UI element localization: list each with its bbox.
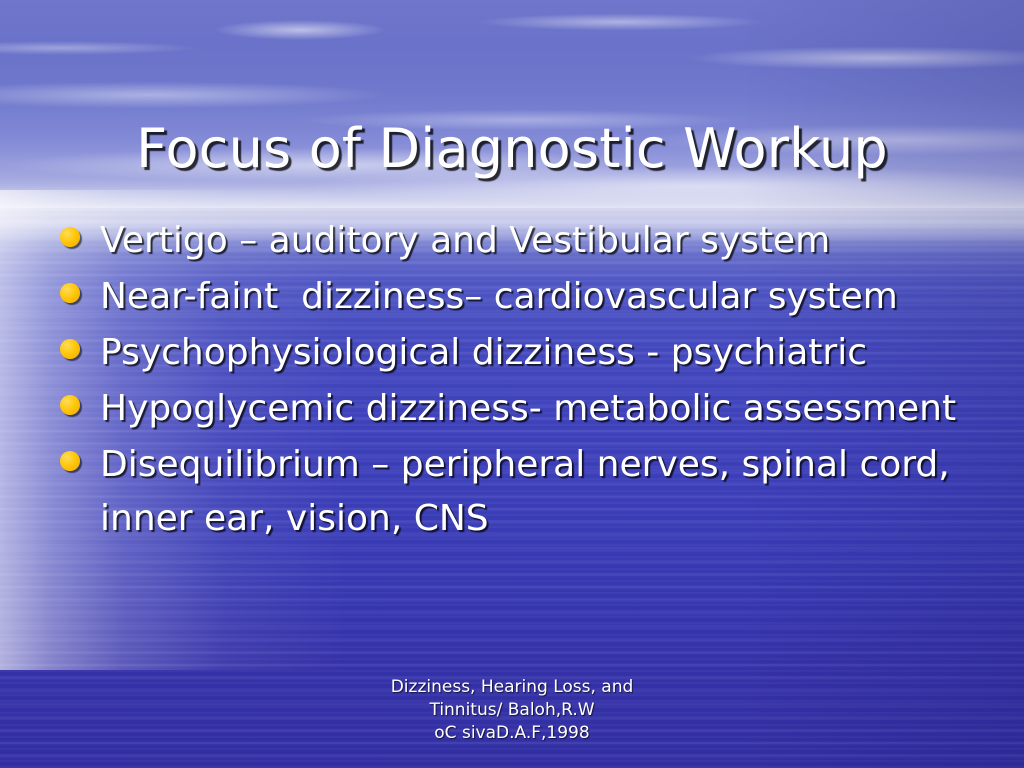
footer-line-3: oC sivaD.A.F,1998	[0, 722, 1024, 745]
slide-title: Focus of Diagnostic Workup	[0, 118, 1024, 180]
bullet-list: Vertigo – auditory and Vestibular system…	[58, 214, 968, 548]
bullet-text: Near-faint dizziness– cardiovascular sys…	[100, 276, 898, 317]
bullet-dot-icon	[60, 227, 80, 247]
bullet-text: Vertigo – auditory and Vestibular system	[100, 220, 830, 261]
list-item: Hypoglycemic dizziness- metabolic assess…	[58, 382, 968, 436]
slide-footer-citation: Dizziness, Hearing Loss, and Tinnitus/ B…	[0, 676, 1024, 745]
list-item: Vertigo – auditory and Vestibular system	[58, 214, 968, 268]
bullet-dot-icon	[60, 395, 80, 415]
bullet-text: Hypoglycemic dizziness- metabolic assess…	[100, 388, 956, 429]
footer-line-1: Dizziness, Hearing Loss, and	[0, 676, 1024, 699]
bullet-dot-icon	[60, 339, 80, 359]
presentation-slide: Focus of Diagnostic Workup Vertigo – aud…	[0, 0, 1024, 768]
slide-content: Focus of Diagnostic Workup Vertigo – aud…	[0, 0, 1024, 768]
bullet-text: Disequilibrium – peripheral nerves, spin…	[100, 444, 961, 539]
bullet-dot-icon	[60, 283, 80, 303]
bullet-text: Psychophysiological dizziness - psychiat…	[100, 332, 867, 373]
list-item: Disequilibrium – peripheral nerves, spin…	[58, 438, 968, 546]
bullet-dot-icon	[60, 451, 80, 471]
list-item: Psychophysiological dizziness - psychiat…	[58, 326, 968, 380]
footer-line-2: Tinnitus/ Baloh,R.W	[0, 699, 1024, 722]
list-item: Near-faint dizziness– cardiovascular sys…	[58, 270, 968, 324]
